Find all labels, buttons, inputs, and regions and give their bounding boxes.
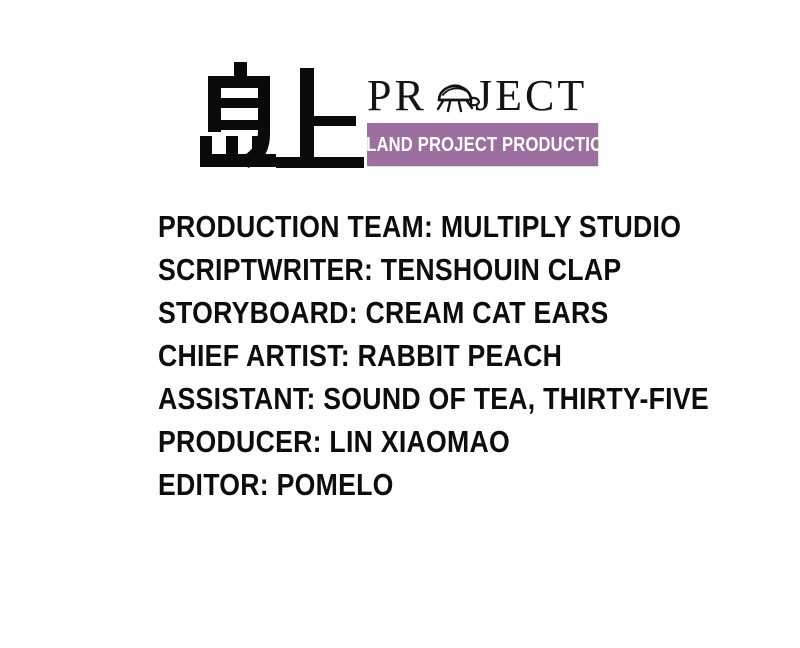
credit-line-chief-artist: CHIEF ARTIST: RABBIT PEACH: [158, 334, 674, 377]
credit-line-assistant: ASSISTANT: SOUND OF TEA, THIRTY-FIVE: [158, 377, 674, 420]
latin-wordmark-project: PR JECT: [367, 70, 599, 118]
cjk-wordmark-island: [198, 58, 366, 170]
credit-line-scriptwriter: SCRIPTWRITER: TENSHOUIN CLAP: [158, 248, 674, 291]
credit-line-production-team: PRODUCTION TEAM: MULTIPLY STUDIO: [158, 205, 674, 248]
credits-list: PRODUCTION TEAM: MULTIPLY STUDIO SCRIPTW…: [158, 205, 758, 506]
logo-block: PR JECT: [0, 0, 800, 190]
svg-text:PR: PR: [367, 71, 427, 118]
credit-line-producer: PRODUCER: LIN XIAOMAO: [158, 420, 674, 463]
credits-page: PR JECT: [0, 0, 800, 648]
credit-line-storyboard: STORYBOARD: CREAM CAT EARS: [158, 291, 674, 334]
banner-label: ISLAND PROJECT PRODUCTION: [350, 135, 615, 155]
turtle-icon: [438, 85, 479, 111]
island-project-production-banner: ISLAND PROJECT PRODUCTION: [367, 123, 598, 166]
credit-line-editor: EDITOR: POMELO: [158, 463, 674, 506]
svg-text:JECT: JECT: [475, 71, 587, 118]
